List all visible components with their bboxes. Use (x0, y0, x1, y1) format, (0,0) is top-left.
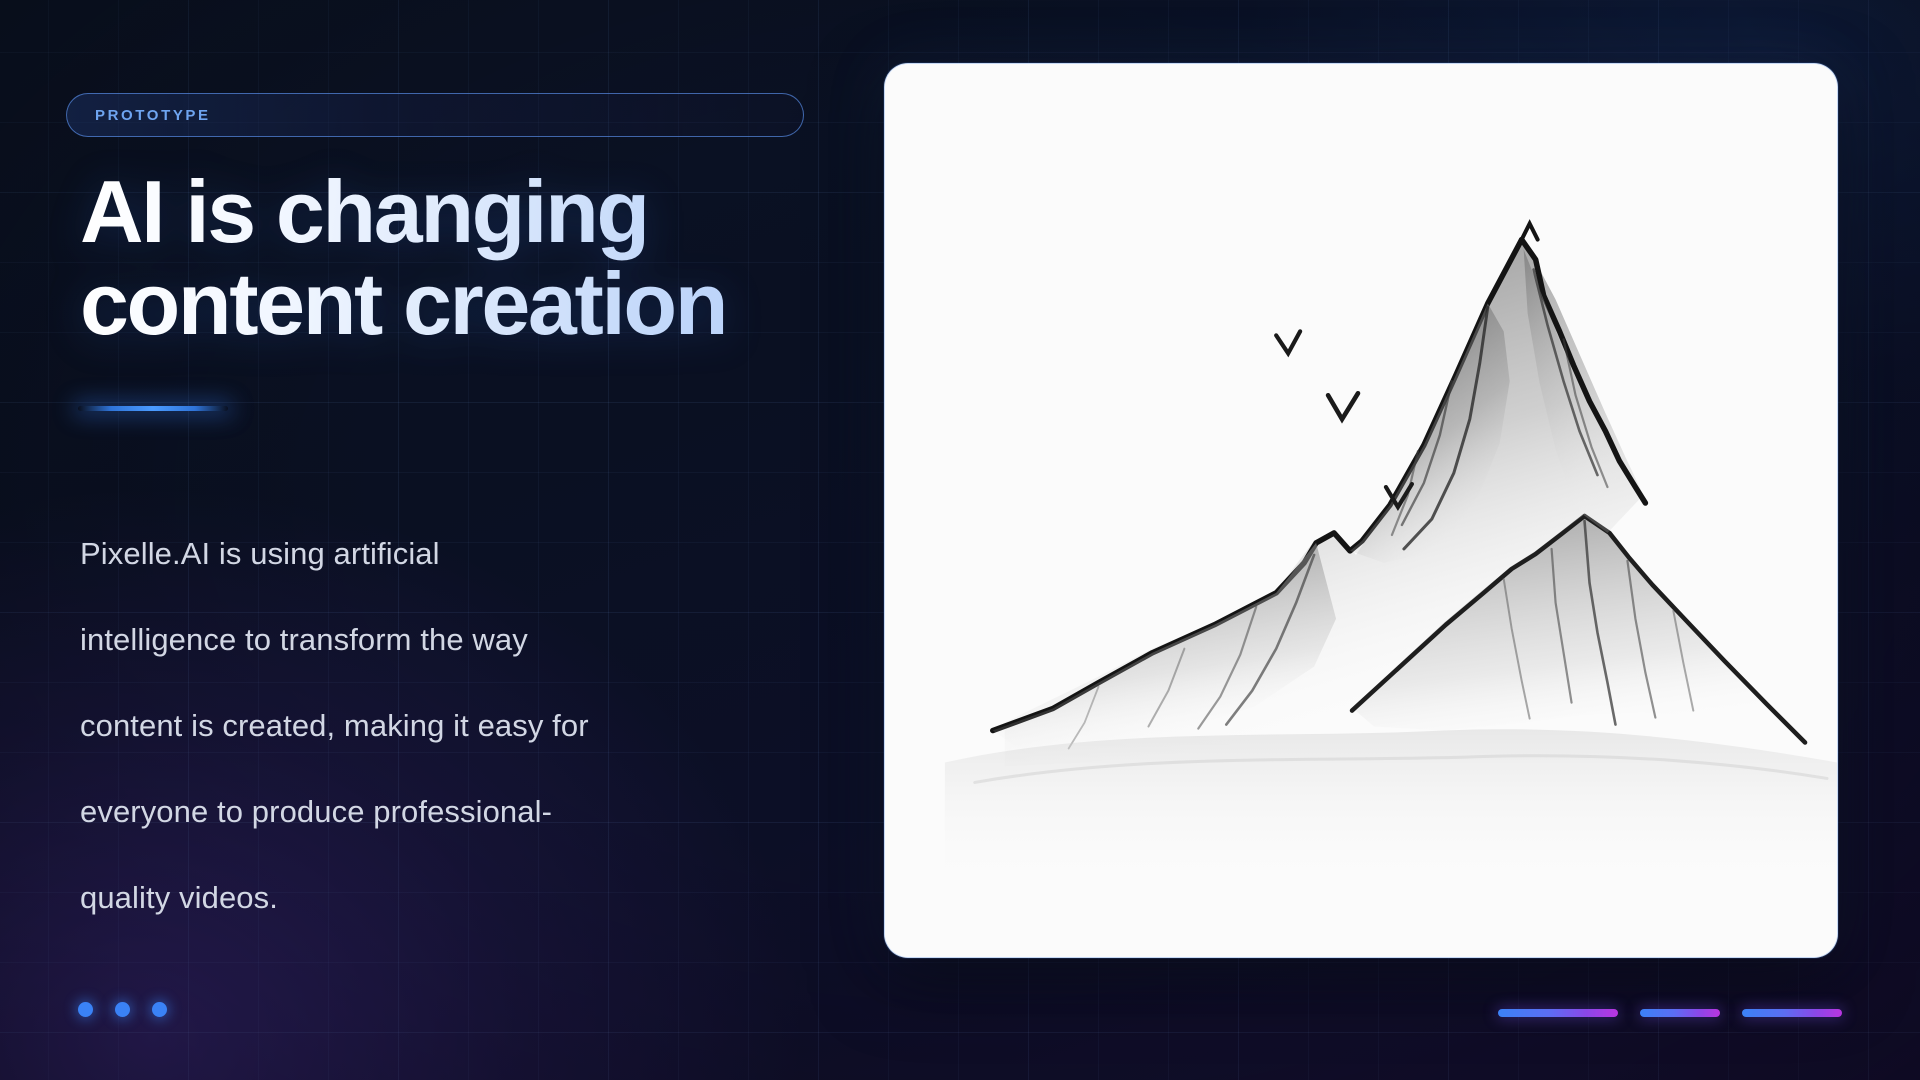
slide-root: PROTOTYPE AI is changing content creatio… (0, 0, 1920, 1080)
prototype-badge-label: PROTOTYPE (95, 107, 211, 124)
progress-bar-group[interactable] (1498, 1009, 1842, 1017)
pagination-dot-3[interactable] (152, 1002, 167, 1017)
media-card[interactable] (884, 63, 1838, 958)
prototype-badge: PROTOTYPE (66, 93, 804, 137)
body-line: everyone to produce professional- (80, 769, 820, 855)
left-content-column: PROTOTYPE AI is changing content creatio… (80, 0, 840, 1080)
pagination-dots[interactable] (78, 1002, 167, 1017)
headline-line-1: AI is changing (80, 166, 840, 258)
body-line: Pixelle.AI is using artificial (80, 511, 820, 597)
page-title: AI is changing content creation (80, 166, 840, 349)
body-line: intelligence to transform the way (80, 597, 820, 683)
headline-line-2: content creation (80, 258, 840, 350)
mountain-sketch-illustration (885, 64, 1837, 957)
accent-underline (78, 406, 228, 411)
body-paragraph: Pixelle.AI is using artificial intellige… (80, 511, 820, 941)
progress-bar-3[interactable] (1742, 1009, 1842, 1017)
body-line: content is created, making it easy for (80, 683, 820, 769)
progress-bar-2[interactable] (1640, 1009, 1720, 1017)
body-line: quality videos. (80, 855, 820, 941)
progress-bar-1[interactable] (1498, 1009, 1618, 1017)
pagination-dot-2[interactable] (115, 1002, 130, 1017)
pagination-dot-1[interactable] (78, 1002, 93, 1017)
